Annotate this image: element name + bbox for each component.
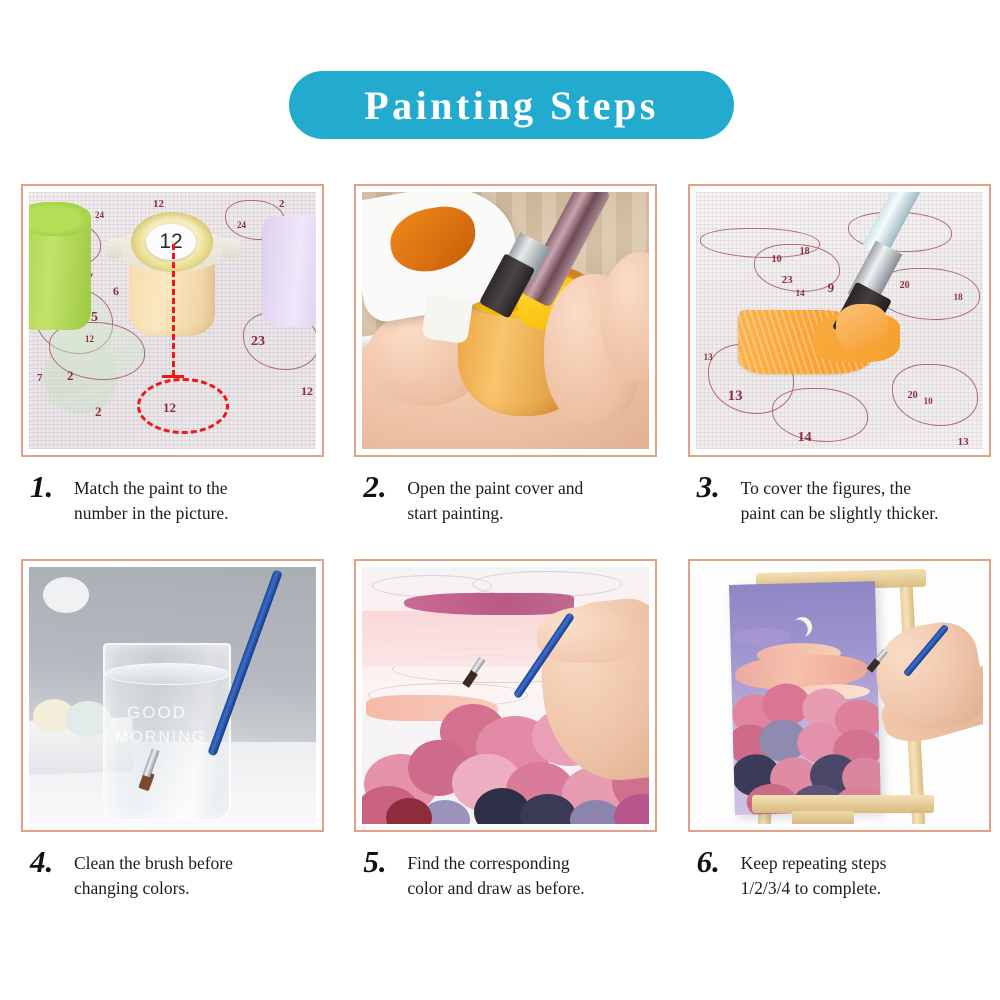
step-4-caption: 4. Clean the brush before changing color… [30,846,333,902]
step-4-text: Clean the brush before changing colors. [74,846,233,902]
finished-painting-on-easel-photo [696,567,983,824]
canvas-number: 12 [85,334,94,344]
step-6-caption: 6. Keep repeating steps 1/2/3/4 to compl… [697,846,1000,902]
painting-steps-grid: 12 2 24 24 7 6 5 12 2 7 2 23 23 24 12 [0,184,1000,934]
step-3-number: 3. [697,471,731,502]
canvas-number: 13 [958,436,969,448]
step-6-text: Keep repeating steps 1/2/3/4 to complete… [741,846,887,902]
canvas-number: 18 [800,246,810,257]
canvas-number: 24 [95,210,104,220]
canvas-number: 5 [91,310,98,326]
step-1-photo-frame: 12 2 24 24 7 6 5 12 2 7 2 23 23 24 12 [21,184,324,457]
canvas-number: 14 [798,430,812,446]
step-3-text: To cover the figures, the paint can be s… [741,471,939,527]
brush-painting-orange-on-canvas-photo: 10 18 23 9 14 20 18 13 20 13 20 10 14 13 [696,192,983,449]
canvas-number: 14 [796,288,805,298]
canvas-number: 9 [828,280,835,296]
open-paint-pot-with-brush-photo [362,192,649,449]
step-cell-6: 6. Keep repeating steps 1/2/3/4 to compl… [667,559,1000,934]
canvas-number: 2 [279,198,285,210]
easel-tray-support [792,811,854,824]
paint-smear [386,201,481,277]
page-title-banner: Painting Steps [289,71,734,139]
step-1-number: 1. [30,471,64,502]
caption-line: paint can be slightly thicker. [741,501,939,526]
step-3-photo-frame: 10 18 23 9 14 20 18 13 20 13 20 10 14 13 [688,184,991,457]
step-2-text: Open the paint cover and start painting. [407,471,583,527]
canvas-number: 7 [37,372,43,384]
step-2-number: 2. [363,471,397,502]
caption-line: number in the picture. [74,501,229,526]
page-title: Painting Steps [364,82,659,129]
glass-text-line-1: GOOD [127,703,187,723]
step-4-photo-frame: GOOD MORNING [21,559,324,832]
step-5-number: 5. [363,846,397,877]
step-cell-5: 5. Find the corresponding color and draw… [333,559,666,934]
caption-line: start painting. [407,501,583,526]
background-object [43,577,89,613]
highlighted-canvas-number: 12 [163,400,176,416]
green-paint-pot [29,208,91,330]
step-1-text: Match the paint to the number in the pic… [74,471,229,527]
step-4-number: 4. [30,846,64,877]
step-cell-2: 2. Open the paint cover and start painti… [333,184,666,559]
caption-line: changing colors. [74,876,233,901]
paint-pot-number-label: 12 [146,224,196,260]
canvas-number: 18 [954,292,963,302]
caption-line: 1/2/3/4 to complete. [741,876,887,901]
caption-line: color and draw as before. [407,876,584,901]
brush-in-water-glass-photo: GOOD MORNING [29,567,316,824]
finished-canvas [729,581,881,815]
step-6-number: 6. [697,846,731,877]
canvas-number: 24 [237,220,246,230]
canvas-number: 23 [782,274,793,286]
step-2-caption: 2. Open the paint cover and start painti… [363,471,666,527]
water-surface [105,663,229,685]
step-3-caption: 3. To cover the figures, the paint can b… [697,471,1000,527]
step-5-caption: 5. Find the corresponding color and draw… [363,846,666,902]
step-2-photo-frame [354,184,657,457]
step-6-photo-frame [688,559,991,832]
step-1-caption: 1. Match the paint to the number in the … [30,471,333,527]
purple-paint-pot [262,216,316,326]
paint-on-bristles [836,304,888,350]
glass-text-line-2: MORNING [115,729,206,747]
canvas-number: 20 [908,390,918,401]
canvas-number: 20 [900,280,910,291]
caption-line: Open the paint cover and [407,476,583,501]
step-5-photo-frame [354,559,657,832]
paint-pot-on-numbered-canvas-photo: 12 2 24 24 7 6 5 12 2 7 2 23 23 24 12 [29,192,316,449]
canvas-number: 13 [728,388,743,405]
caption-line: Match the paint to the [74,476,229,501]
dashed-guide-line [172,244,175,376]
knuckles [537,607,629,663]
canvas-number: 10 [772,254,782,265]
canvas-number: 2 [95,404,102,420]
canvas-number: 12 [301,384,313,399]
dashed-highlight-ellipse [137,378,229,434]
lid-tab [422,294,474,344]
caption-line: To cover the figures, the [741,476,939,501]
canvas-number: 2 [67,368,74,384]
step-cell-4: GOOD MORNING 4. Clean the brush before c… [0,559,333,934]
step-cell-1: 12 2 24 24 7 6 5 12 2 7 2 23 23 24 12 [0,184,333,559]
canvas-number: 13 [704,352,713,362]
pot-lid [29,202,91,236]
canvas-number: 23 [251,334,265,350]
step-5-text: Find the corresponding color and draw as… [407,846,584,902]
canvas-number: 10 [924,396,933,406]
caption-line: Keep repeating steps [741,851,887,876]
caption-line: Clean the brush before [74,851,233,876]
magenta-cloud-stroke [404,593,574,615]
step-cell-3: 10 18 23 9 14 20 18 13 20 13 20 10 14 13 [667,184,1000,559]
caption-line: Find the corresponding [407,851,584,876]
partly-painted-canvas-with-hand-photo [362,567,649,824]
